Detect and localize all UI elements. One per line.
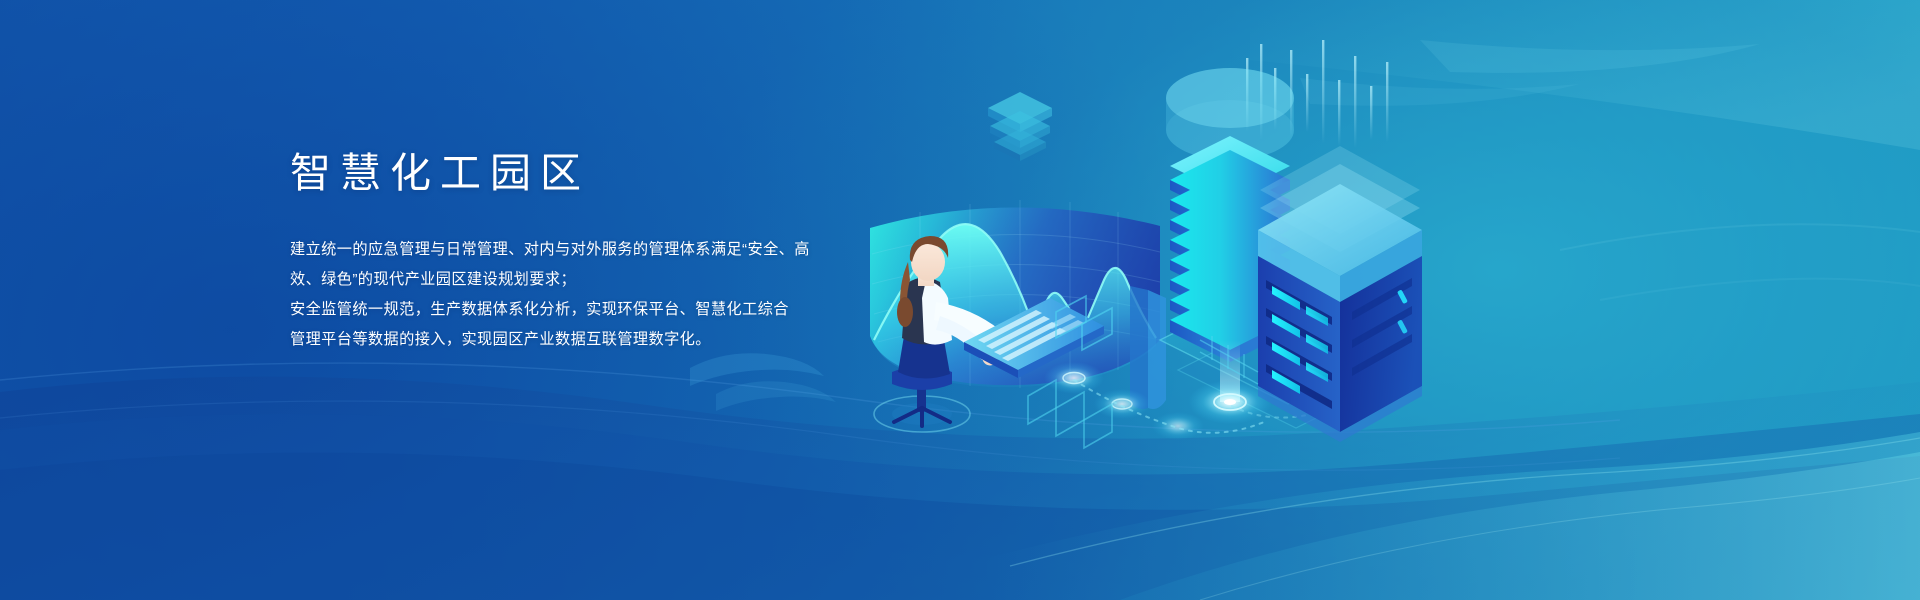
hero-description: 建立统一的应急管理与日常管理、对内与对外服务的管理体系满足“安全、高 效、绿色”…: [290, 235, 890, 355]
description-line-2: 效、绿色”的现代产业园区建设规划要求；: [290, 265, 890, 295]
description-line-1: 建立统一的应急管理与日常管理、对内与对外服务的管理体系满足“安全、高: [290, 235, 890, 265]
page-title: 智慧化工园区: [290, 148, 890, 199]
hero-banner: 智慧化工园区 建立统一的应急管理与日常管理、对内与对外服务的管理体系满足“安全、…: [0, 0, 1920, 600]
description-line-3: 安全监管统一规范，生产数据体系化分析，实现环保平台、智慧化工综合: [290, 295, 890, 325]
description-line-4: 管理平台等数据的接入，实现园区产业数据互联管理数字化。: [290, 325, 890, 355]
hero-copy: 智慧化工园区 建立统一的应急管理与日常管理、对内与对外服务的管理体系满足“安全、…: [290, 148, 890, 355]
hero-illustration: [860, 40, 1420, 460]
floating-layers-icon: [988, 92, 1052, 161]
